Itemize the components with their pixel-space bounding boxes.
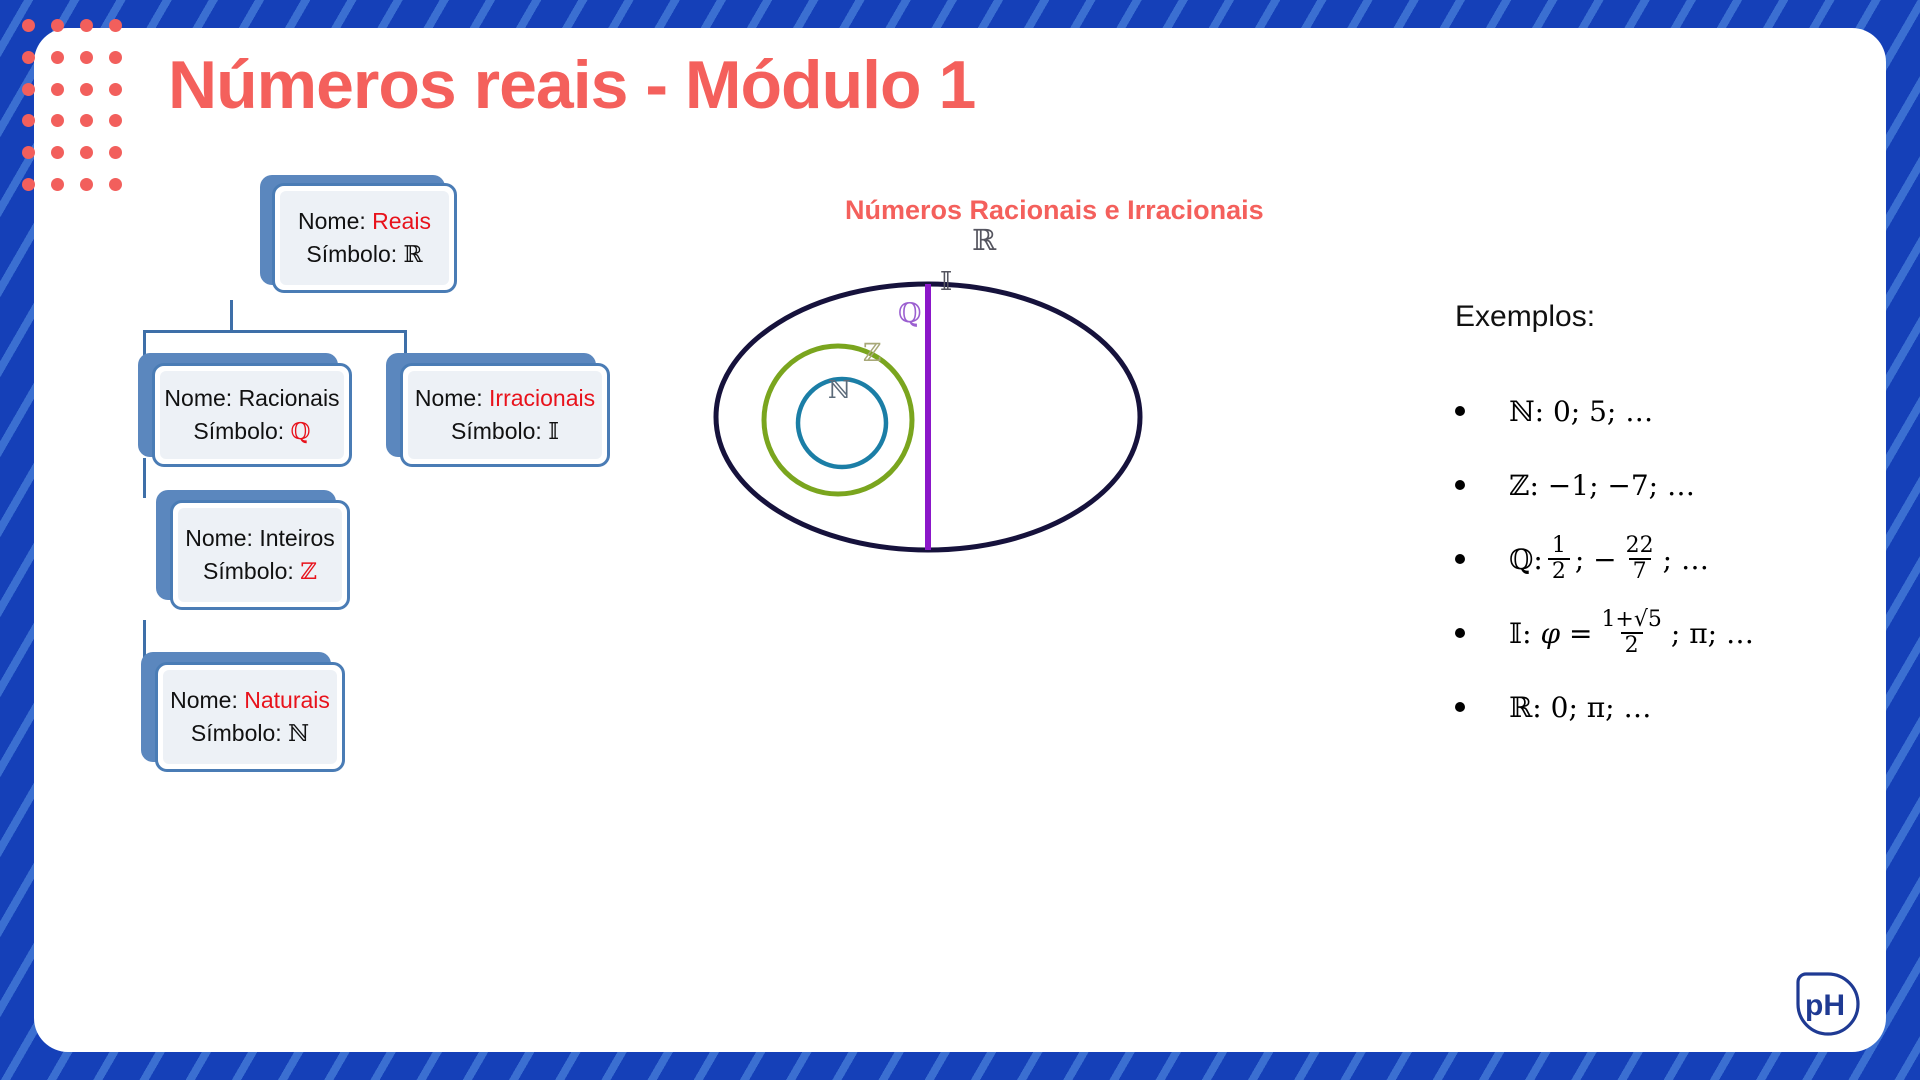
- example-set-symbol: 𝕀: [1509, 617, 1522, 650]
- value-simbolo: ℕ: [288, 721, 309, 747]
- venn-label-naturais: ℕ: [828, 375, 851, 404]
- example-body: ℕ: 0; 5; …: [1509, 395, 1653, 428]
- page-title: Números reais - Módulo 1: [168, 46, 975, 124]
- dot: [80, 146, 93, 159]
- label-simbolo: Símbolo:: [306, 241, 397, 267]
- dot: [109, 51, 122, 64]
- venn-diagram-section: Números Racionais e Irracionais ℝ 𝕀 ℚ ℤ …: [700, 195, 1260, 615]
- dot: [22, 178, 35, 191]
- dot: [109, 83, 122, 96]
- flowchart-node-inteiros[interactable]: Nome: Inteiros Símbolo: ℤ: [170, 500, 350, 610]
- value-simbolo: ℤ: [300, 559, 317, 585]
- node-symbol-line: Símbolo: ℝ: [306, 241, 422, 268]
- example-row-irracionais: 𝕀: φ = 1+√5 2 ; π; …: [1455, 596, 1875, 670]
- bullet-icon: [1455, 480, 1465, 490]
- example-body: 𝕀: φ = 1+√5 2 ; π; …: [1509, 608, 1754, 658]
- example-row-naturais: ℕ: 0; 5; …: [1455, 374, 1875, 448]
- dot: [51, 146, 64, 159]
- label-simbolo: Símbolo:: [193, 418, 284, 444]
- venn-label-reais: ℝ: [972, 223, 996, 257]
- flowchart-node-naturais[interactable]: Nome: Naturais Símbolo: ℕ: [155, 662, 345, 772]
- example-mid: ; −: [1575, 543, 1617, 576]
- node-symbol-line: Símbolo: ℤ: [203, 558, 317, 585]
- dot: [80, 178, 93, 191]
- flowchart-node-irracionais[interactable]: Nome: Irracionais Símbolo: 𝕀: [400, 363, 610, 467]
- example-set-symbol: ℤ: [1509, 469, 1529, 502]
- node-name-line: Nome: Inteiros: [185, 525, 335, 551]
- node-name-line: Nome: Naturais: [170, 687, 330, 713]
- connector-split-horizontal: [143, 330, 407, 333]
- example-tail: ; …: [1663, 543, 1709, 576]
- dot: [109, 146, 122, 159]
- value-simbolo: 𝕀: [548, 419, 559, 445]
- fraction-golden-ratio: 1+√5 2: [1597, 608, 1665, 658]
- label-simbolo: Símbolo:: [451, 418, 542, 444]
- bullet-icon: [1455, 628, 1465, 638]
- ph-logo-svg: pH: [1788, 968, 1862, 1042]
- examples-list: Exemplos: ℕ: 0; 5; … ℤ: −1; −7; … ℚ: 1 2: [1455, 300, 1875, 744]
- fraction-twentytwo-sevenths: 22 7: [1622, 534, 1658, 584]
- examples-heading: Exemplos:: [1455, 300, 1875, 334]
- example-row-reais: ℝ: 0; π; …: [1455, 670, 1875, 744]
- fraction-numerator: 1: [1548, 534, 1570, 558]
- node-inner: Nome: Naturais Símbolo: ℕ: [163, 670, 337, 764]
- dot: [109, 178, 122, 191]
- fraction-denominator: 7: [1629, 558, 1651, 584]
- node-symbol-line: Símbolo: 𝕀: [451, 418, 559, 445]
- number-sets-flowchart: Nome: Reais Símbolo: ℝ Nome: Racionais S…: [110, 175, 650, 795]
- slide-root: Números reais - Módulo 1 Nome: Reais Sím…: [0, 0, 1920, 1080]
- node-inner: Nome: Inteiros Símbolo: ℤ: [178, 508, 342, 602]
- dot: [80, 19, 93, 32]
- value-nome: Irracionais: [489, 385, 595, 411]
- connector-reais-down: [230, 300, 233, 332]
- dot: [51, 51, 64, 64]
- venn-circle-inteiros: [764, 346, 912, 494]
- bullet-icon: [1455, 406, 1465, 416]
- label-nome: Nome:: [164, 385, 232, 411]
- flowchart-node-racionais[interactable]: Nome: Racionais Símbolo: ℚ: [152, 363, 352, 467]
- ph-logo-text: pH: [1805, 989, 1845, 1022]
- example-set-symbol: ℚ: [1509, 543, 1533, 576]
- dot: [22, 19, 35, 32]
- example-separator: :: [1532, 691, 1541, 724]
- label-simbolo: Símbolo:: [191, 720, 282, 746]
- flowchart-node-reais[interactable]: Nome: Reais Símbolo: ℝ: [272, 183, 457, 293]
- example-separator: :: [1535, 395, 1544, 428]
- dot: [22, 146, 35, 159]
- node-name-line: Nome: Racionais: [164, 385, 339, 411]
- label-nome: Nome:: [185, 525, 253, 551]
- example-body: ℝ: 0; π; …: [1509, 691, 1652, 724]
- bullet-icon: [1455, 702, 1465, 712]
- venn-label-racionais: ℚ: [898, 298, 922, 329]
- dot: [80, 83, 93, 96]
- example-set-symbol: ℝ: [1509, 691, 1532, 724]
- example-row-racionais: ℚ: 1 2 ; − 22 7 ; …: [1455, 522, 1875, 596]
- label-nome: Nome:: [415, 385, 483, 411]
- example-set-symbol: ℕ: [1509, 395, 1535, 428]
- node-name-line: Nome: Irracionais: [415, 385, 595, 411]
- example-separator: :: [1529, 469, 1538, 502]
- node-inner: Nome: Irracionais Símbolo: 𝕀: [408, 371, 602, 459]
- value-nome: Inteiros: [259, 525, 334, 551]
- example-row-inteiros: ℤ: −1; −7; …: [1455, 448, 1875, 522]
- node-symbol-line: Símbolo: ℚ: [193, 418, 310, 445]
- example-values: 0; 5; …: [1553, 395, 1653, 428]
- equals-sign: =: [1569, 617, 1592, 650]
- fraction-numerator: 22: [1622, 534, 1658, 558]
- example-body: ℤ: −1; −7; …: [1509, 469, 1695, 502]
- value-nome: Racionais: [239, 385, 340, 411]
- node-symbol-line: Símbolo: ℕ: [191, 720, 309, 747]
- ph-logo: pH: [1788, 968, 1862, 1042]
- value-simbolo: ℝ: [404, 242, 423, 268]
- connector-racionais-inteiros: [143, 458, 146, 498]
- node-inner: Nome: Racionais Símbolo: ℚ: [160, 371, 344, 459]
- fraction-denominator: 2: [1548, 558, 1570, 584]
- dot: [109, 114, 122, 127]
- dot: [51, 178, 64, 191]
- value-nome: Naturais: [244, 687, 330, 713]
- dot: [80, 51, 93, 64]
- label-nome: Nome:: [298, 208, 366, 234]
- fraction-denominator: 2: [1621, 632, 1643, 658]
- label-simbolo: Símbolo:: [203, 558, 294, 584]
- fraction-numerator: 1+√5: [1597, 608, 1665, 632]
- example-values: 0; π; …: [1551, 691, 1652, 724]
- example-values: −1; −7; …: [1548, 469, 1695, 502]
- bullet-icon: [1455, 554, 1465, 564]
- venn-diagram-title: Números Racionais e Irracionais: [845, 195, 1264, 226]
- label-nome: Nome:: [170, 687, 238, 713]
- dot: [51, 19, 64, 32]
- node-inner: Nome: Reais Símbolo: ℝ: [280, 191, 449, 285]
- phi-symbol: φ: [1540, 617, 1560, 650]
- value-simbolo: ℚ: [291, 419, 311, 445]
- value-nome: Reais: [372, 208, 431, 234]
- dot: [22, 114, 35, 127]
- dot: [51, 83, 64, 96]
- fraction-one-half: 1 2: [1548, 534, 1570, 584]
- venn-diagram-svg: [710, 250, 1190, 580]
- dot: [80, 114, 93, 127]
- example-separator: :: [1533, 543, 1542, 576]
- example-separator: :: [1522, 617, 1531, 650]
- example-tail: ; π; …: [1671, 617, 1754, 650]
- dot: [22, 83, 35, 96]
- decorative-dot-grid: [14, 10, 130, 200]
- node-name-line: Nome: Reais: [298, 208, 431, 234]
- dot: [22, 51, 35, 64]
- example-body: ℚ: 1 2 ; − 22 7 ; …: [1509, 534, 1709, 584]
- dot: [109, 19, 122, 32]
- venn-label-irracionais: 𝕀: [940, 267, 952, 297]
- venn-label-inteiros: ℤ: [863, 338, 881, 367]
- dot: [51, 114, 64, 127]
